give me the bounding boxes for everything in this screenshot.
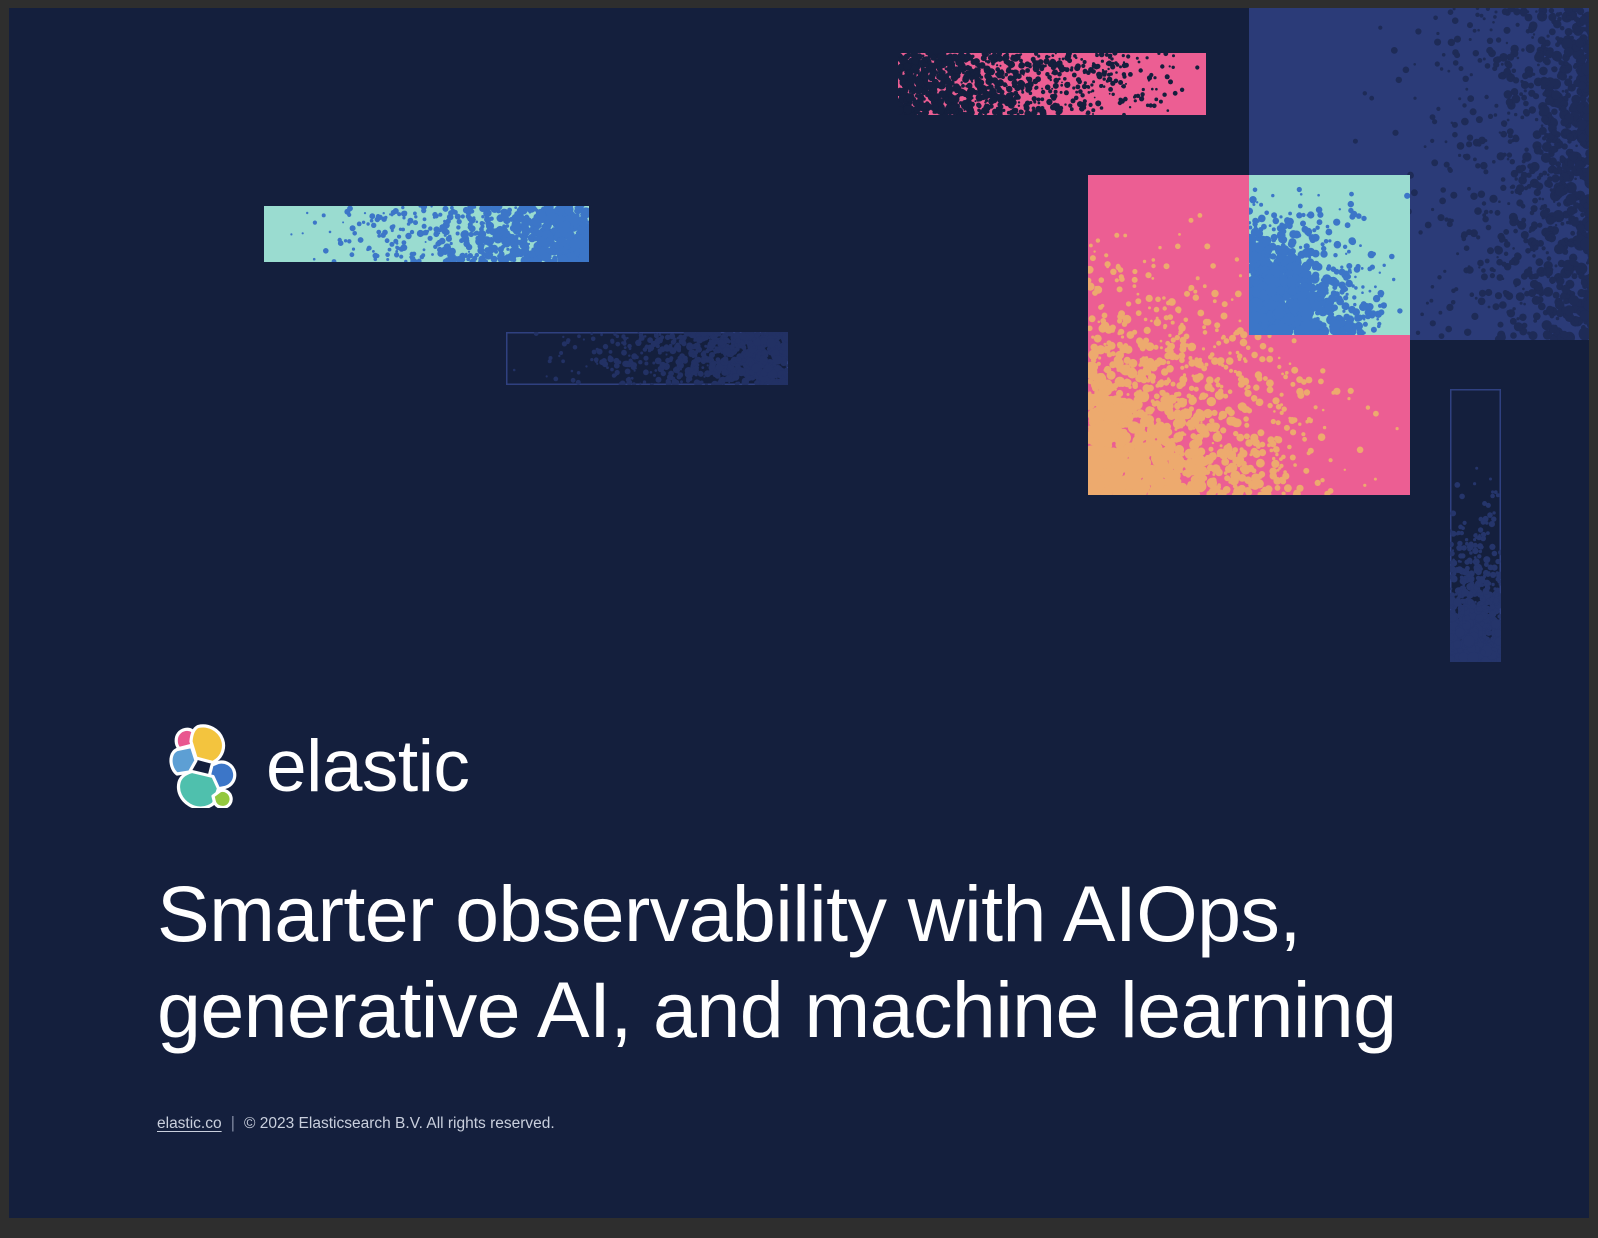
teal-square-overlap [1249,175,1410,335]
copyright-text: © 2023 Elasticsearch B.V. All rights res… [244,1116,555,1132]
outlined-vertical-bar [1450,389,1501,662]
page-title: Smarter observability with AIOps, genera… [157,866,1457,1059]
slide-content: elastic Smarter observability with AIOps… [157,714,1457,1132]
brand-lockup: elastic [157,714,1457,810]
outlined-navy-dither-bar [506,332,788,385]
outer-frame: elastic Smarter observability with AIOps… [0,0,1598,1238]
teal-blue-dither-bar [264,206,589,262]
elastic-co-link[interactable]: elastic.co [157,1116,222,1132]
footer: elastic.co | © 2023 Elasticsearch B.V. A… [157,1115,1457,1132]
elastic-wordmark: elastic [266,730,469,803]
blue-panel-top-right [1249,8,1589,340]
slide-canvas: elastic Smarter observability with AIOps… [9,8,1589,1218]
pink-dither-bar [898,53,1206,115]
pink-square-large [1088,175,1410,495]
elastic-cluster-logo-icon [157,716,249,808]
footer-separator: | [231,1114,235,1131]
